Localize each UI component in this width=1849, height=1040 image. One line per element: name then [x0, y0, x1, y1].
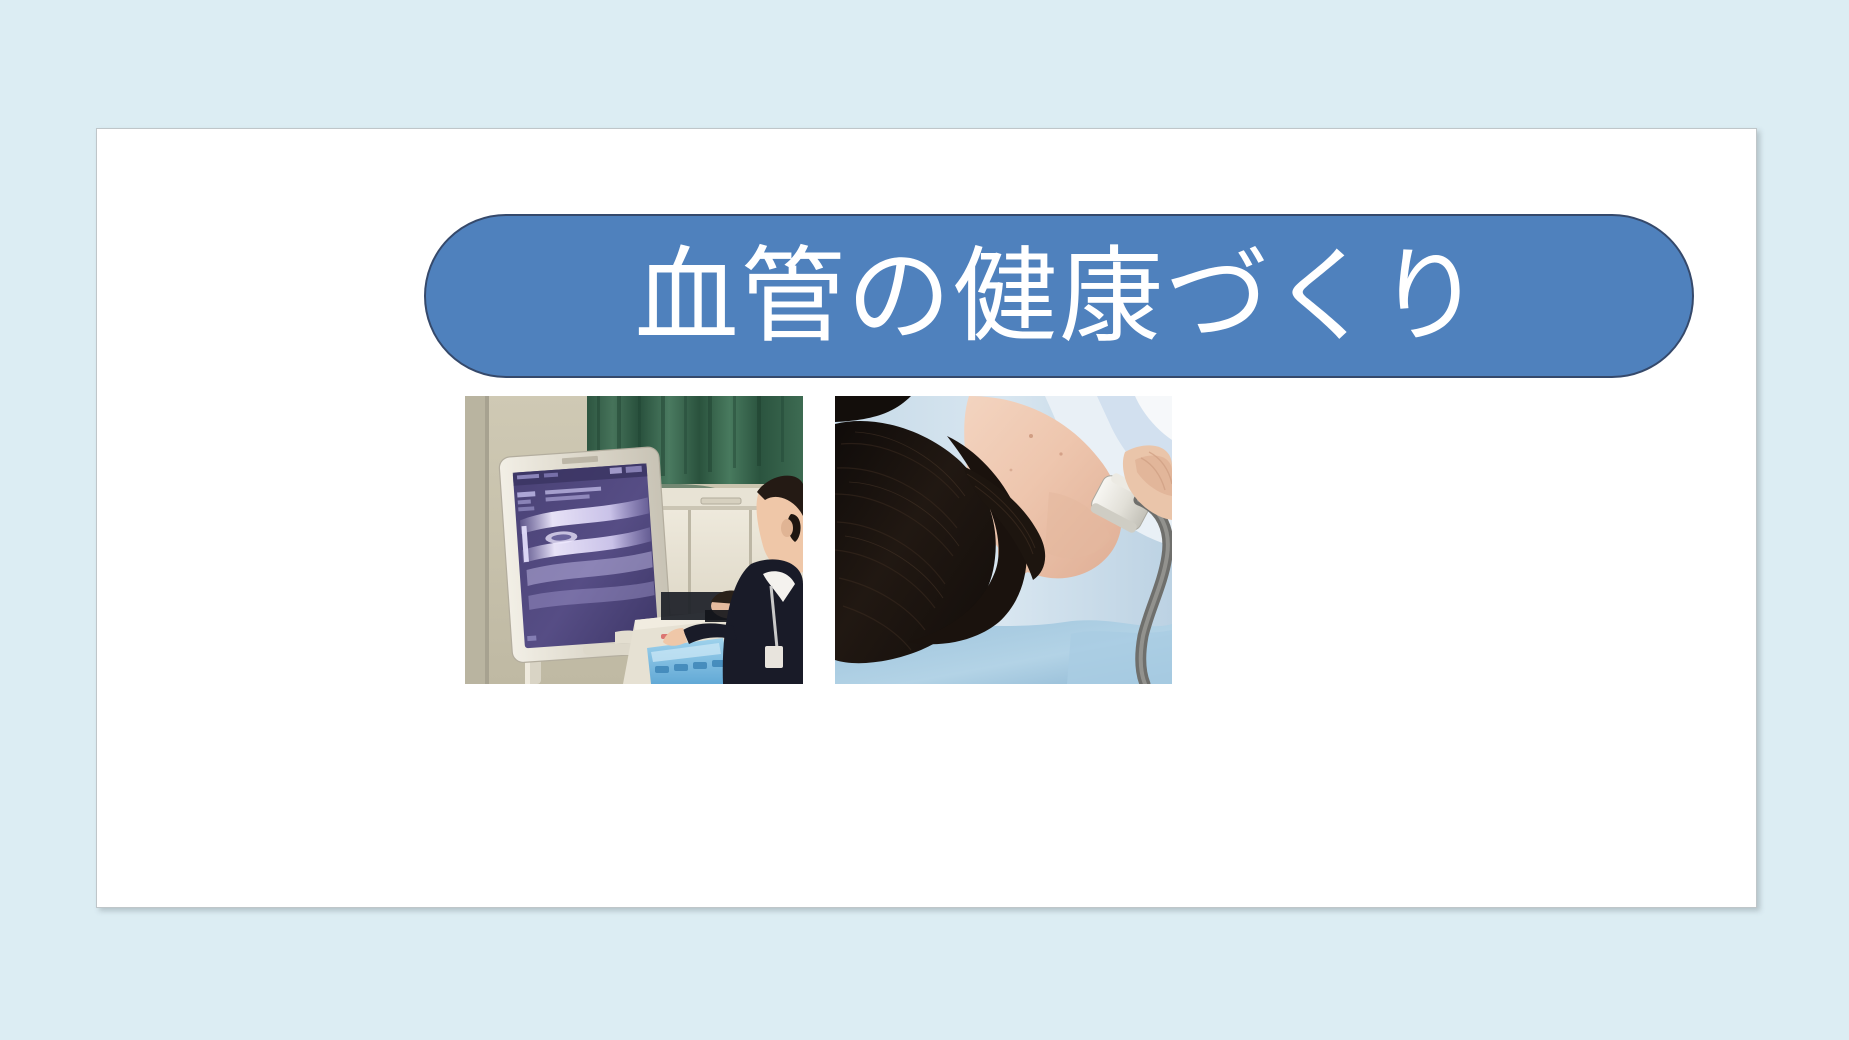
photo-carotid-exam-image [835, 396, 1172, 684]
photo-ultrasound-machine[interactable] [465, 396, 803, 684]
title-banner[interactable]: 血管の健康づくり [424, 214, 1694, 378]
presentation-canvas: 血管の健康づくり [0, 0, 1849, 1040]
slide[interactable]: 血管の健康づくり [96, 128, 1757, 908]
photo-ultrasound-machine-image [465, 396, 803, 684]
page-title: 血管の健康づくり [635, 244, 1484, 348]
photo-carotid-exam[interactable] [835, 396, 1172, 684]
